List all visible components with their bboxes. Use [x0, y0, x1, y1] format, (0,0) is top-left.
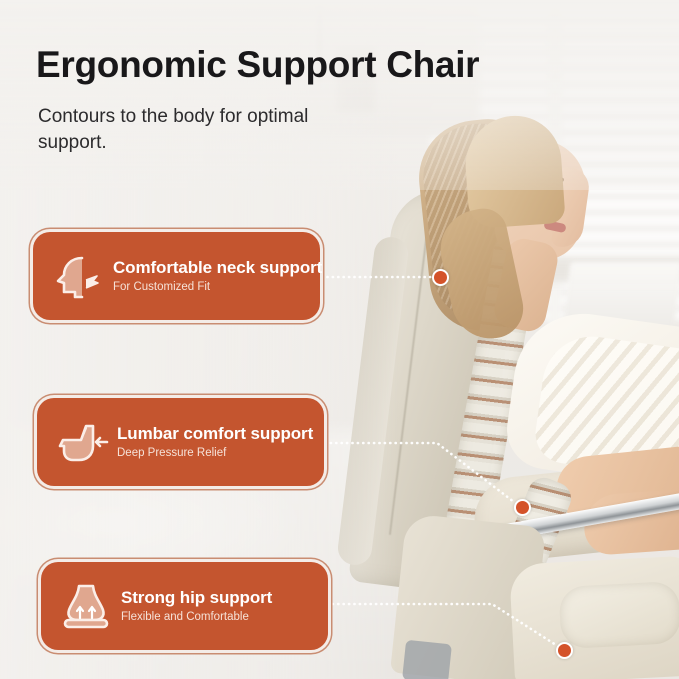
feature-title: Lumbar comfort support — [117, 423, 313, 444]
feature-title: Comfortable neck support — [113, 257, 322, 278]
feature-text-lumbar: Lumbar comfort support Deep Pressure Rel… — [117, 423, 313, 462]
chair-base — [402, 640, 452, 679]
feature-card-neck[interactable]: Comfortable neck support For Customized … — [33, 232, 320, 320]
feature-card-lumbar[interactable]: Lumbar comfort support Deep Pressure Rel… — [37, 398, 324, 486]
product-infographic: Ergonomic Support Chair Contours to the … — [0, 0, 679, 679]
feature-title: Strong hip support — [121, 587, 272, 608]
feature-text-hip: Strong hip support Flexible and Comforta… — [121, 587, 272, 626]
hip-pelvis-icon — [57, 577, 115, 635]
page-subtitle: Contours to the body for optimal support… — [38, 104, 368, 156]
feature-subtitle: Flexible and Comfortable — [121, 609, 272, 626]
lumbar-chair-icon — [53, 413, 111, 471]
feature-subtitle: For Customized Fit — [113, 279, 322, 296]
page-title: Ergonomic Support Chair — [36, 44, 479, 86]
head-neck-icon — [49, 247, 107, 305]
callout-dot-lumbar — [514, 499, 531, 516]
seat-tufting — [558, 581, 679, 649]
callout-dot-hip — [556, 642, 573, 659]
feature-text-neck: Comfortable neck support For Customized … — [113, 257, 322, 296]
callout-dot-neck — [432, 269, 449, 286]
feature-card-hip[interactable]: Strong hip support Flexible and Comforta… — [41, 562, 328, 650]
feature-subtitle: Deep Pressure Relief — [117, 445, 313, 462]
